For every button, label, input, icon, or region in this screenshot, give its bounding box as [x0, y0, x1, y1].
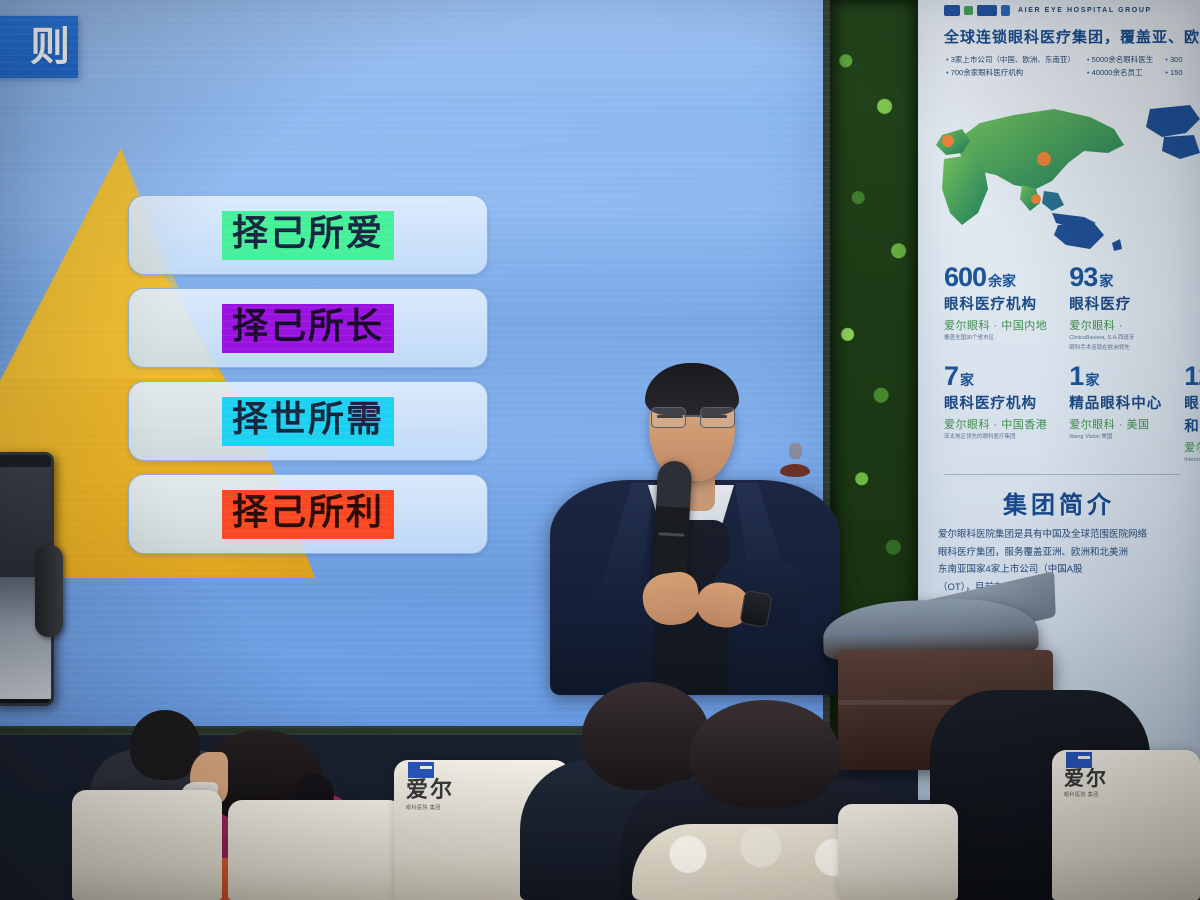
- stat-number: 600余家: [944, 264, 1047, 291]
- slide-card-text: 择世所需: [222, 397, 394, 446]
- slide-card-text: 择己所爱: [222, 211, 394, 260]
- slide-card: 择己所利: [128, 474, 488, 554]
- stat-label: 精品眼科中心: [1069, 392, 1162, 413]
- stat-row: 7家 眼科医疗机构 爱尔眼科 · 中国香港 亚太地区领先的眼科医疗集团 1家 精…: [944, 363, 1200, 465]
- slide-card-text: 择己所利: [222, 490, 394, 539]
- poster-bullet: 300: [1165, 53, 1182, 66]
- chair-brand-zh: 爱尔: [1064, 766, 1126, 792]
- stat-label: 眼科医疗机构: [944, 293, 1047, 314]
- eyeglasses-icon: [649, 407, 737, 427]
- world-map-graphic: [918, 93, 1200, 258]
- stat-label: 眼科医疗: [1069, 293, 1134, 314]
- stat-brand: 爱尔眼: [1184, 439, 1200, 455]
- slide-card: 择己所爱: [128, 195, 488, 275]
- poster-bullets-mid: 5000余名眼科医生 40000余名员工: [1087, 53, 1153, 79]
- logo-english-text: AIER EYE HOSPITAL GROUP: [1018, 7, 1152, 14]
- stat-600: 600余家 眼科医疗机构 爱尔眼科 · 中国内地 覆盖全国30个省市区: [944, 264, 1047, 352]
- stat-number: 7家: [944, 363, 1047, 390]
- smartwatch-icon: [739, 590, 772, 628]
- microphone-band: [658, 532, 684, 536]
- poster-bullets-left: 3家上市公司（中国、欧洲、东南亚） 700余家眼科医疗机构: [946, 53, 1075, 79]
- stat-label: 眼科: [1184, 392, 1200, 413]
- stat-row: 600余家 眼科医疗机构 爱尔眼科 · 中国内地 覆盖全国30个省市区 93家 …: [944, 264, 1200, 352]
- attendee-head: [690, 700, 840, 808]
- chair-brand-fine: 眼科医院 集团: [1064, 792, 1126, 799]
- stat-fine: International: [1184, 457, 1200, 465]
- stat-fine: 覆盖全国30个省市区: [944, 335, 1047, 343]
- audience-area: 爱尔 眼科医院 集团 爱尔 眼科医院 集团: [0, 640, 1200, 900]
- slide-card-text: 择己所长: [222, 304, 394, 353]
- poster-bullet: 5000余名眼科医生: [1087, 53, 1153, 66]
- nose: [789, 443, 802, 459]
- chair-with-logo: 爱尔 眼科医院 集团: [1052, 750, 1200, 900]
- stat-brand: 爱尔眼科 ·: [1069, 317, 1134, 333]
- phone-status-bar: [0, 455, 51, 467]
- poster-headline: 全球连锁眼科医疗集团，覆盖亚、欧: [918, 18, 1200, 47]
- stat-number: 1家: [1069, 363, 1162, 390]
- stat-7: 7家 眼科医疗机构 爱尔眼科 · 中国香港 亚太地区领先的眼科医疗集团: [944, 363, 1047, 465]
- logo-leaf-icon: [964, 6, 973, 15]
- intro-line: 眼科医疗集团，服务覆盖亚洲、欧洲和北美洲: [938, 544, 1188, 562]
- poster-divider: [944, 474, 1180, 475]
- stat-brand: 爱尔眼科 · 美国: [1069, 416, 1162, 432]
- logo-mark-icon: [944, 5, 960, 16]
- intro-line: 东南亚国家4家上市公司（中国A股: [938, 561, 1188, 579]
- slide-card: 择世所需: [128, 381, 488, 461]
- stat-12: 12 眼科 和全 爱尔眼 International: [1184, 363, 1200, 465]
- intro-line: 爱尔眼科医院集团是具有中国及全球范围医院网络: [938, 526, 1188, 544]
- logo-wordmark-icon: [977, 5, 997, 16]
- aier-logo: AIER EYE HOSPITAL GROUP: [918, 0, 1200, 18]
- poster-stats: 600余家 眼科医疗机构 爱尔眼科 · 中国内地 覆盖全国30个省市区 93家 …: [918, 258, 1200, 464]
- conference-photo: 则 择己所爱 择己所长: [0, 0, 1200, 900]
- stat-93: 93家 眼科医疗 爱尔眼科 · ClinicaBaviera, S.A.西班牙 …: [1069, 264, 1134, 352]
- stat-number: 12: [1184, 363, 1200, 390]
- lens-left: [651, 407, 686, 428]
- lens-right: [700, 407, 735, 428]
- stat-label-2: 和全: [1184, 415, 1200, 436]
- chair-brand-fine: 眼科医院 集团: [406, 805, 468, 812]
- chair-brand-zh: 爱尔: [406, 776, 468, 805]
- stat-unit: 家: [960, 372, 974, 388]
- slide-card: 择己所长: [128, 288, 488, 368]
- stat-unit: 余家: [988, 273, 1016, 289]
- stat-fine: 亚太地区领先的眼科医疗集团: [944, 434, 1047, 442]
- poster-bullets-right: 300 150: [1165, 53, 1182, 79]
- slide-title-banner: 则: [0, 16, 78, 78]
- phone-clamp-holder: [35, 545, 63, 637]
- stat-brand: 爱尔眼科 · 中国内地: [944, 317, 1047, 333]
- logo-block-icon: [1001, 5, 1010, 16]
- stat-brand: 爱尔眼科 · 中国香港: [944, 416, 1047, 432]
- mouth: [780, 464, 810, 477]
- stat-unit: 家: [1085, 372, 1099, 388]
- poster-bullet-groups: 3家上市公司（中国、欧洲、东南亚） 700余家眼科医疗机构 5000余名眼科医生…: [918, 47, 1200, 79]
- stat-fine-2: 眼科手术连锁在欧洲领先: [1069, 345, 1134, 353]
- chair: [72, 790, 222, 900]
- chair: [838, 804, 958, 900]
- chair-brand-text: 爱尔 眼科医院 集团: [1064, 766, 1126, 799]
- stat-number: 93家: [1069, 264, 1134, 291]
- stat-fine: ClinicaBaviera, S.A.西班牙: [1069, 335, 1134, 343]
- chair-brand-text: 爱尔 眼科医院 集团: [406, 776, 468, 811]
- poster-bullet: 150: [1165, 66, 1182, 79]
- poster-intro-title: 集团简介: [918, 485, 1200, 520]
- chair: [228, 800, 403, 900]
- stat-unit: 家: [1099, 273, 1113, 289]
- stat-1: 1家 精品眼科中心 爱尔眼科 · 美国 Wang Vision 美国: [1069, 363, 1162, 465]
- slide-card-list: 择己所爱 择己所长 择世所需 择己所利: [128, 195, 488, 567]
- poster-bullet: 700余家眼科医疗机构: [946, 66, 1075, 79]
- stat-label: 眼科医疗机构: [944, 392, 1047, 413]
- stat-fine: Wang Vision 美国: [1069, 434, 1162, 442]
- slide-title-text: 则: [30, 27, 78, 67]
- poster-bullet: 40000余名员工: [1087, 66, 1153, 79]
- poster-bullet: 3家上市公司（中国、欧洲、东南亚）: [946, 53, 1075, 66]
